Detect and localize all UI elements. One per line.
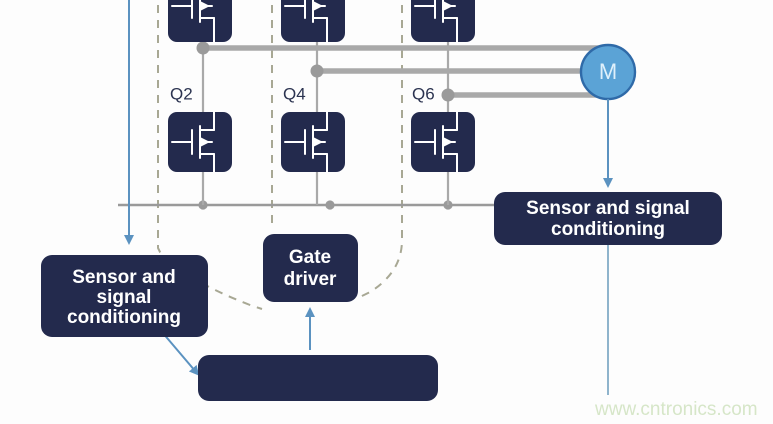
watermark-text: www.cntronics.com xyxy=(594,399,758,420)
mosfet-q2[interactable] xyxy=(168,112,232,172)
mosfet-q4[interactable] xyxy=(281,112,345,172)
diagram-svg: Q2 Q4 Q6 M Sensor and signal conditionin… xyxy=(0,0,773,424)
motor[interactable]: M xyxy=(581,45,635,99)
motor-label: M xyxy=(599,59,617,84)
block-controller-bottom-body xyxy=(198,355,438,401)
mosfet-bottom-row xyxy=(168,112,475,172)
block-sensor-right-line-1: Sensor and signal xyxy=(526,198,690,219)
mosfet-q3[interactable] xyxy=(281,0,345,42)
block-controller-bottom[interactable] xyxy=(198,355,438,401)
mosfet-label-q2: Q2 xyxy=(170,84,193,103)
phase-node-dot-u xyxy=(197,42,210,55)
diagram-canvas: Q2 Q4 Q6 M Sensor and signal conditionin… xyxy=(0,0,773,424)
block-sensor-left[interactable]: Sensor and signal conditioning xyxy=(41,255,208,337)
mosfet-q1[interactable] xyxy=(168,0,232,42)
dc-negative-rail xyxy=(118,200,520,209)
block-sensor-left-line-2: signal xyxy=(97,287,152,308)
mosfet-q6[interactable] xyxy=(411,112,475,172)
block-sensor-right[interactable]: Sensor and signal conditioning xyxy=(494,192,722,245)
mosfet-top-row xyxy=(168,0,475,42)
dashed-line-leg-c xyxy=(360,0,402,297)
block-sensor-left-line-1: Sensor and xyxy=(72,267,175,288)
block-gate-driver-line-1: Gate xyxy=(289,247,331,268)
block-sensor-left-line-3: conditioning xyxy=(67,307,181,328)
mosfet-q5[interactable] xyxy=(411,0,475,42)
mosfet-label-q4: Q4 xyxy=(283,84,306,103)
mosfet-label-q6: Q6 xyxy=(412,84,435,103)
phase-node-dot-v xyxy=(311,65,324,78)
phase-wires-to-motor xyxy=(197,42,601,102)
block-gate-driver-line-2: driver xyxy=(284,269,337,290)
block-sensor-right-line-2: conditioning xyxy=(551,219,665,240)
block-gate-driver[interactable]: Gate driver xyxy=(263,234,358,302)
phase-node-dot-w xyxy=(442,89,455,102)
rail-node-dot-v xyxy=(325,200,334,209)
arrow-left-sensor-to-controller xyxy=(162,332,196,372)
